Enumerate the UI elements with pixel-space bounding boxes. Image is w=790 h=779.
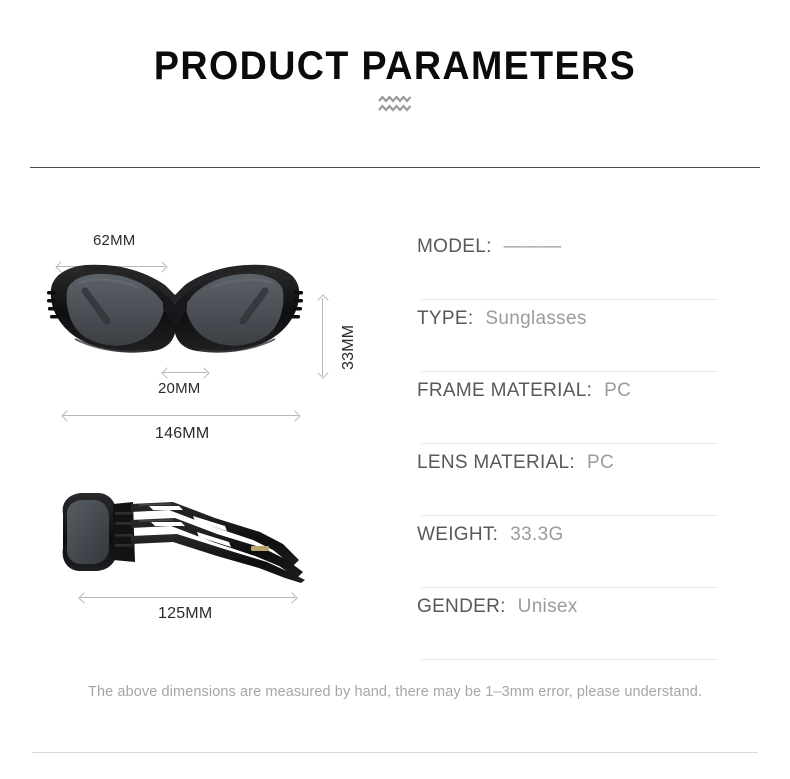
spec-value-type: Sunglasses <box>485 308 586 330</box>
spec-value-model: ——— <box>504 236 562 258</box>
spec-label-gender: GENDER: <box>417 596 506 618</box>
spec-label-weight: WEIGHT: <box>417 524 498 546</box>
spec-row-lens-material: LENS MATERIAL: PC <box>417 444 719 516</box>
measurement-disclaimer: The above dimensions are measured by han… <box>0 684 790 700</box>
spec-label-type: TYPE: <box>417 308 473 330</box>
page-title: PRODUCT PARAMETERS <box>24 44 767 89</box>
dimension-label-lens-width: 62MM <box>93 232 135 249</box>
spec-label-model: MODEL: <box>417 236 492 258</box>
spec-value-lens-material: PC <box>587 452 614 474</box>
spec-label-frame-material: FRAME MATERIAL: <box>417 380 592 402</box>
spec-divider <box>420 659 718 660</box>
zigzag-wave-ornament <box>0 96 790 116</box>
spec-value-weight: 33.3G <box>510 524 563 546</box>
spec-value-gender: Unisex <box>518 596 578 618</box>
footer-divider <box>32 752 758 753</box>
spec-row-frame-material: FRAME MATERIAL: PC <box>417 372 719 444</box>
spec-value-frame-material: PC <box>604 380 631 402</box>
dimension-label-temple-length: 125MM <box>158 605 212 623</box>
dimension-label-total-width: 146MM <box>155 425 209 443</box>
specification-list: MODEL: ——— TYPE: Sunglasses FRAME MATERI… <box>417 228 719 660</box>
spec-label-lens-material: LENS MATERIAL: <box>417 452 575 474</box>
product-drawings-column: 62MM <box>0 200 390 660</box>
product-parameters-page: PRODUCT PARAMETERS 62MM <box>0 0 790 779</box>
header-divider <box>30 167 760 168</box>
spec-row-weight: WEIGHT: 33.3G <box>417 516 719 588</box>
sunglasses-side-view <box>55 488 320 583</box>
spec-row-model: MODEL: ——— <box>417 228 719 300</box>
spec-row-gender: GENDER: Unisex <box>417 588 719 660</box>
dimension-label-bridge: 20MM <box>158 380 200 397</box>
spec-row-type: TYPE: Sunglasses <box>417 300 719 372</box>
dimension-label-lens-height: 33MM <box>340 325 358 370</box>
sunglasses-front-view <box>45 255 305 365</box>
